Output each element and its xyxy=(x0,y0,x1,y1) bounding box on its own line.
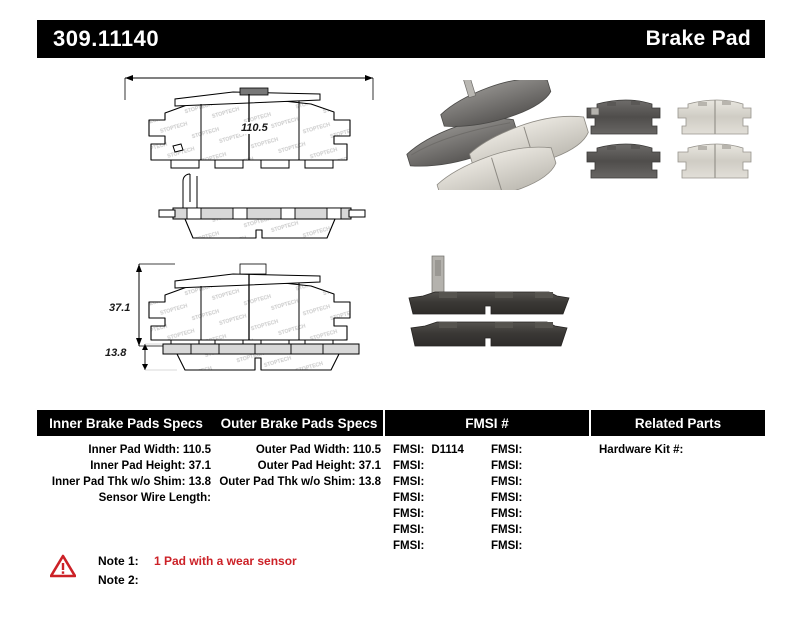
cad-edge-view: STOPTECH STOPTECH xyxy=(115,172,385,250)
fmsi-label: FMSI: xyxy=(393,476,424,488)
outer-specs-column: Outer Pad Width: 110.5 Outer Pad Height:… xyxy=(215,442,385,554)
note-2-label: Note 2: xyxy=(98,571,150,590)
photo-pads-topdown xyxy=(577,94,762,192)
fmsi-row: FMSI: xyxy=(393,522,491,538)
fmsi-value xyxy=(522,492,529,504)
part-number: 309.11140 xyxy=(53,26,159,52)
fmsi-value xyxy=(424,508,431,520)
fmsi-column: FMSI:D1114 FMSI: FMSI: FMSI: FMSI: FMSI:… xyxy=(385,442,589,554)
column-header-related-parts: Related Parts xyxy=(591,410,765,436)
fmsi-value xyxy=(522,540,529,552)
fmsi-label: FMSI: xyxy=(491,444,522,456)
fmsi-value xyxy=(522,444,529,456)
spec-row: Outer Pad Width: 110.5 xyxy=(215,442,381,458)
fmsi-row: FMSI: xyxy=(491,522,589,538)
fmsi-value xyxy=(424,460,431,472)
fmsi-label: FMSI: xyxy=(393,508,424,520)
dimension-width-label: 110.5 xyxy=(239,122,270,134)
note-2-value xyxy=(150,571,154,590)
dimension-height-label: 37.1 xyxy=(107,302,132,314)
cad-face-view: STOPTECH STOPTECH xyxy=(115,68,385,173)
fmsi-label: FMSI: xyxy=(393,444,424,456)
table-header-row: Inner Brake Pads Specs Outer Brake Pads … xyxy=(37,410,765,436)
note-1-label: Note 1: xyxy=(98,552,150,571)
fmsi-row: FMSI:D1114 xyxy=(393,442,491,458)
cad-thickness-view: STOPTECH STOPTECH xyxy=(115,332,385,388)
column-header-outer-specs: Outer Brake Pads Specs xyxy=(215,410,383,436)
photo-pads-angled xyxy=(397,80,592,190)
fmsi-value xyxy=(522,476,529,488)
dimension-thickness-label: 13.8 xyxy=(103,347,128,359)
table-body: Inner Pad Width: 110.5 Inner Pad Height:… xyxy=(37,436,765,554)
notes-section: Note 1: 1 Pad with a wear sensor Note 2: xyxy=(50,552,297,590)
fmsi-row: FMSI: xyxy=(393,538,491,554)
fmsi-label: FMSI: xyxy=(393,460,424,472)
fmsi-value: D1114 xyxy=(424,444,464,456)
spec-row: Outer Pad Thk w/o Shim: 13.8 xyxy=(215,474,381,490)
fmsi-row: FMSI: xyxy=(393,474,491,490)
fmsi-row: FMSI: xyxy=(393,458,491,474)
fmsi-subcolumn-left: FMSI:D1114 FMSI: FMSI: FMSI: FMSI: FMSI:… xyxy=(393,442,491,554)
note-2: Note 2: xyxy=(98,571,297,590)
fmsi-subcolumn-right: FMSI: FMSI: FMSI: FMSI: FMSI: FMSI: FMSI… xyxy=(491,442,589,554)
spec-row: Inner Pad Thk w/o Shim: 13.8 xyxy=(37,474,211,490)
spec-row: Inner Pad Width: 110.5 xyxy=(37,442,211,458)
fmsi-row: FMSI: xyxy=(491,490,589,506)
fmsi-label: FMSI: xyxy=(491,476,522,488)
fmsi-value xyxy=(424,476,431,488)
note-1-value: 1 Pad with a wear sensor xyxy=(150,552,297,571)
note-lines: Note 1: 1 Pad with a wear sensor Note 2: xyxy=(98,552,297,590)
spec-row: Inner Pad Height: 37.1 xyxy=(37,458,211,474)
fmsi-row: FMSI: xyxy=(491,458,589,474)
fmsi-label: FMSI: xyxy=(393,524,424,536)
fmsi-value xyxy=(424,492,431,504)
fmsi-row: FMSI: xyxy=(491,442,589,458)
spec-row: Outer Pad Height: 37.1 xyxy=(215,458,381,474)
fmsi-value xyxy=(522,460,529,472)
document-type: Brake Pad xyxy=(646,27,751,51)
fmsi-row: FMSI: xyxy=(491,474,589,490)
fmsi-row: FMSI: xyxy=(393,506,491,522)
fmsi-label: FMSI: xyxy=(491,460,522,472)
drawing-area: STOPTECH STOPTECH xyxy=(37,62,765,392)
fmsi-label: FMSI: xyxy=(491,508,522,520)
related-part-row: Hardware Kit #: xyxy=(599,442,765,458)
fmsi-row: FMSI: xyxy=(491,506,589,522)
fmsi-label: FMSI: xyxy=(491,524,522,536)
fmsi-value xyxy=(522,508,529,520)
product-spec-sheet: 309.11140 Brake Pad STOPTECH STOPTECH xyxy=(0,0,800,619)
column-header-inner-specs: Inner Brake Pads Specs xyxy=(37,410,215,436)
header-bar: 309.11140 Brake Pad xyxy=(37,20,765,58)
column-header-fmsi: FMSI # xyxy=(385,410,589,436)
fmsi-row: FMSI: xyxy=(393,490,491,506)
fmsi-label: FMSI: xyxy=(491,492,522,504)
fmsi-value xyxy=(424,524,431,536)
fmsi-row: FMSI: xyxy=(491,538,589,554)
fmsi-value xyxy=(424,540,431,552)
fmsi-label: FMSI: xyxy=(393,540,424,552)
note-1: Note 1: 1 Pad with a wear sensor xyxy=(98,552,297,571)
warning-icon xyxy=(50,554,76,578)
photo-pads-edge xyxy=(399,252,584,357)
inner-specs-column: Inner Pad Width: 110.5 Inner Pad Height:… xyxy=(37,442,215,554)
fmsi-label: FMSI: xyxy=(491,540,522,552)
spec-row: Sensor Wire Length: xyxy=(37,490,211,506)
specifications-table: Inner Brake Pads Specs Outer Brake Pads … xyxy=(37,410,765,554)
fmsi-value xyxy=(522,524,529,536)
fmsi-label: FMSI: xyxy=(393,492,424,504)
related-parts-column: Hardware Kit #: xyxy=(589,442,765,554)
